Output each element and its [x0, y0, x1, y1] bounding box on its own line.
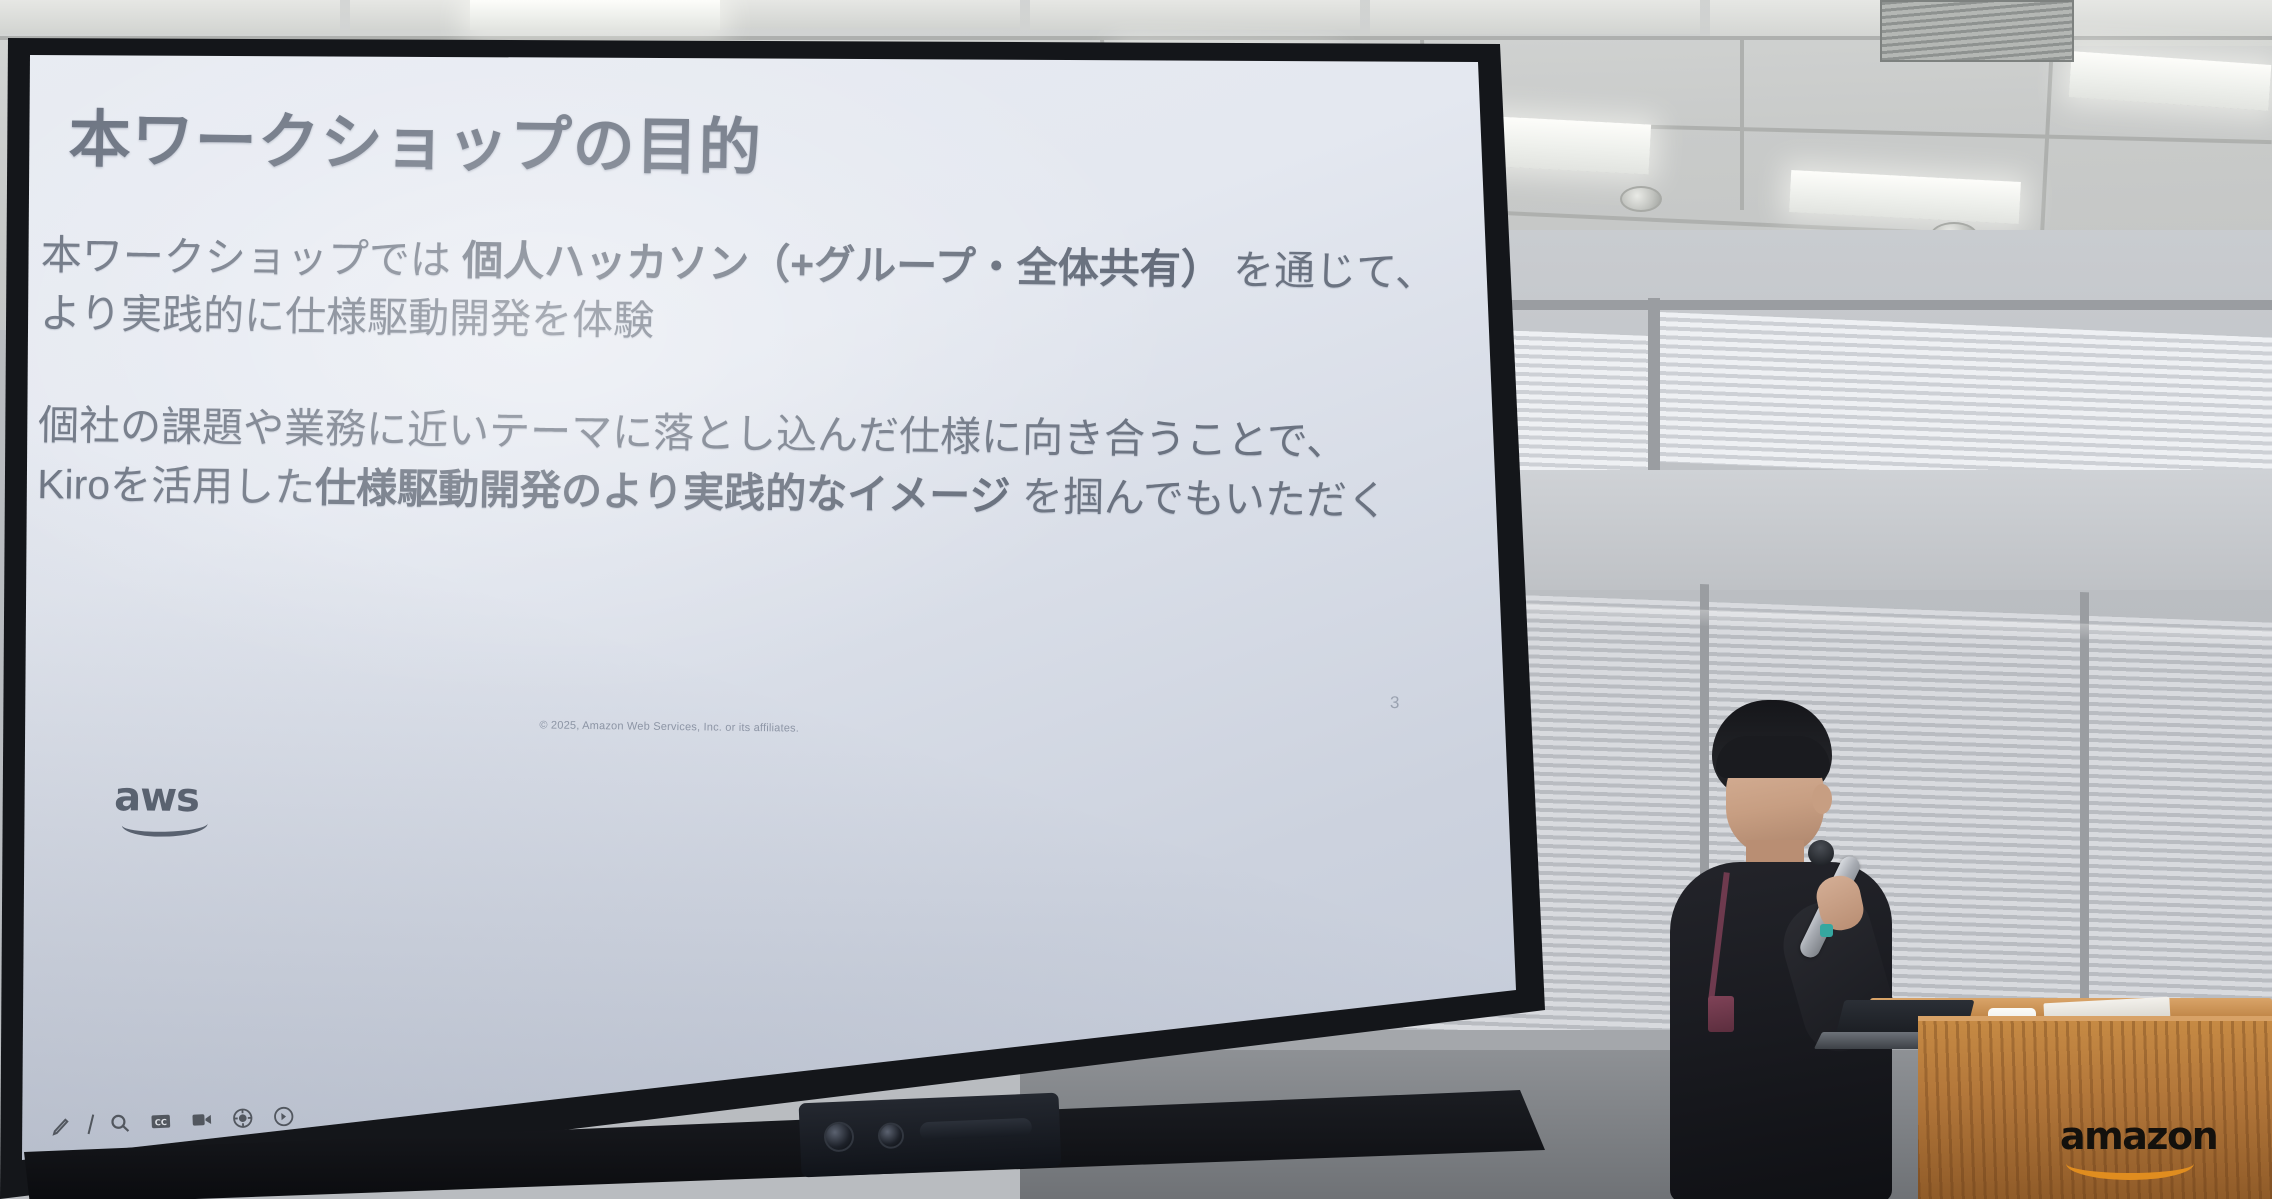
slide-text-run: 個社の課題や業務に近いテーマに落とし込んだ仕様に向き合うことで、: [38, 402, 1348, 464]
ceiling-vent: [1880, 0, 2074, 62]
slide-text-run: Kiroを活用した: [37, 461, 316, 510]
aws-logo: aws: [114, 777, 223, 834]
conference-camera-bar: [799, 1093, 1062, 1178]
ceiling-light: [1789, 170, 2021, 224]
slide-paragraph: 個社の課題や業務に近いテーマに落とし込んだ仕様に向き合うことで、 Kiroを活用…: [37, 396, 1459, 530]
aws-logo-smile-icon: [122, 811, 208, 838]
settings-icon[interactable]: [229, 1105, 256, 1132]
camera-lens-icon: [823, 1121, 854, 1152]
slide-paragraph: 本ワークショップでは 個人ハッカソン（+グループ・全体共有） を通じて、 より実…: [39, 226, 1461, 360]
camera-lens-icon: [877, 1122, 904, 1149]
amazon-logo: amazon: [2060, 1117, 2230, 1177]
svg-text:CC: CC: [155, 1117, 168, 1127]
slide-body: 本ワークショップでは 個人ハッカソン（+グループ・全体共有） を通じて、 より実…: [36, 226, 1461, 585]
slide-text-run: より実践的に仕様駆動開発を体験: [40, 290, 655, 344]
slide-copyright: © 2025, Amazon Web Services, Inc. or its…: [539, 719, 799, 734]
amazon-logo-smile-icon: [2066, 1147, 2194, 1180]
slide-text-run: を通じて、: [1221, 247, 1436, 296]
slide-text-run-emphasis: 仕様駆動開発のより実践的なイメージ: [315, 464, 1011, 519]
search-icon[interactable]: [106, 1110, 133, 1137]
video-camera-icon[interactable]: [188, 1106, 215, 1133]
next-icon[interactable]: [270, 1103, 297, 1130]
toolbar-divider: [88, 1114, 95, 1134]
presenter-fringe: [1716, 736, 1830, 778]
camera-speaker-grille: [919, 1118, 1032, 1141]
presenter-pin: [1820, 924, 1833, 937]
closed-caption-icon[interactable]: CC: [147, 1108, 174, 1135]
slide-text-run: 本ワークショップでは: [40, 232, 462, 283]
presenter-ear: [1812, 784, 1832, 814]
ceiling-sensor-icon: [1620, 186, 1662, 212]
presenter-badge: [1708, 996, 1734, 1032]
ceiling-light: [2069, 51, 2272, 111]
podium: amazon: [1918, 1016, 2272, 1199]
window-blinds: [1660, 312, 2272, 488]
conference-room-photo: 本ワークショップの目的 本ワークショップでは 個人ハッカソン（+グループ・全体共…: [0, 0, 2272, 1199]
presenter: [1660, 700, 1920, 1199]
slide-content: 本ワークショップの目的 本ワークショップでは 個人ハッカソン（+グループ・全体共…: [24, 58, 1490, 1086]
pen-icon[interactable]: [48, 1112, 75, 1139]
slide-page-number: 3: [1390, 693, 1400, 713]
slide-text-run: を掴んでもいただく: [1010, 473, 1388, 524]
slide-text-run-emphasis: 個人ハッカソン（+グループ・全体共有）: [462, 237, 1222, 292]
slide-title: 本ワークショップの目的: [68, 88, 762, 187]
projection-screen: 本ワークショップの目的 本ワークショップでは 個人ハッカソン（+グループ・全体共…: [0, 0, 1560, 1199]
